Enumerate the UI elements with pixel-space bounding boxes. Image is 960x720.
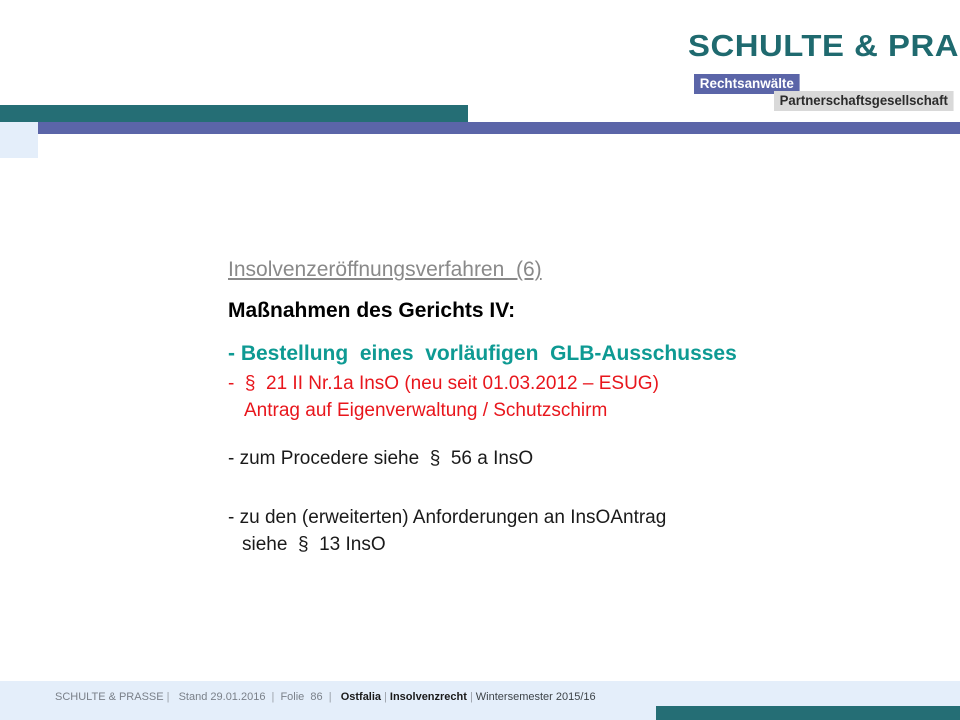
- header-teal-bar: [0, 105, 468, 123]
- footer-term: Wintersemester 2015/16: [476, 691, 596, 703]
- header-purple-bar: [38, 122, 960, 134]
- slide-subtitle: Maßnahmen des Gerichts IV:: [228, 296, 928, 326]
- page-title: Insolvenzeröffnungsverfahren (6): [228, 255, 928, 285]
- bullet-anforderungen-continued: siehe § 13 InsO: [228, 531, 928, 558]
- slide-body: Insolvenzeröffnungsverfahren (6) Maßnahm…: [228, 255, 928, 558]
- logo-subtitle-partnerschaftsgesellschaft: Partnerschaftsgesellschaft: [774, 91, 954, 111]
- company-logo: SCHULTE & PRASSE Rechtsanwälte Partnersc…: [688, 30, 928, 108]
- bullet-red-paragraph-21: - § 21 II Nr.1a InsO (neu seit 01.03.201…: [228, 370, 928, 397]
- footer-stand: Stand 29.01.2016: [179, 691, 266, 703]
- footer-separator-2: |: [269, 691, 278, 703]
- footer-separator-1: |: [164, 691, 173, 703]
- footer-slide-number: Folie 86: [280, 691, 322, 703]
- bullet-red-antrag: Antrag auf Eigenverwaltung / Schutzschir…: [228, 397, 928, 424]
- slide-canvas: SCHULTE & PRASSE Rechtsanwälte Partnersc…: [0, 0, 960, 720]
- footer-institution: Ostfalia: [341, 691, 381, 703]
- bullet-procedere: - zum Procedere siehe § 56 a InsO: [228, 445, 928, 472]
- content-spacer: [228, 472, 928, 504]
- bullet-anforderungen: - zu den (erweiterten) Anforderungen an …: [228, 504, 928, 531]
- footer-separator-3: |: [326, 691, 335, 703]
- footer-separator-5: |: [467, 691, 476, 703]
- footer-firm: SCHULTE & PRASSE: [55, 691, 164, 703]
- bullet-teal-bestellung: - Bestellung eines vorläufigen GLB-Aussc…: [228, 339, 928, 368]
- footer-course: Insolvenzrecht: [390, 691, 467, 703]
- header-left-accent-square: [0, 122, 38, 158]
- logo-wordmark: SCHULTE & PRASSE: [688, 30, 960, 61]
- footer-separator-4: |: [381, 691, 390, 703]
- footer-teal-bar: [656, 706, 960, 720]
- footer-text: SCHULTE & PRASSE| Stand 29.01.2016 | Fol…: [55, 690, 596, 704]
